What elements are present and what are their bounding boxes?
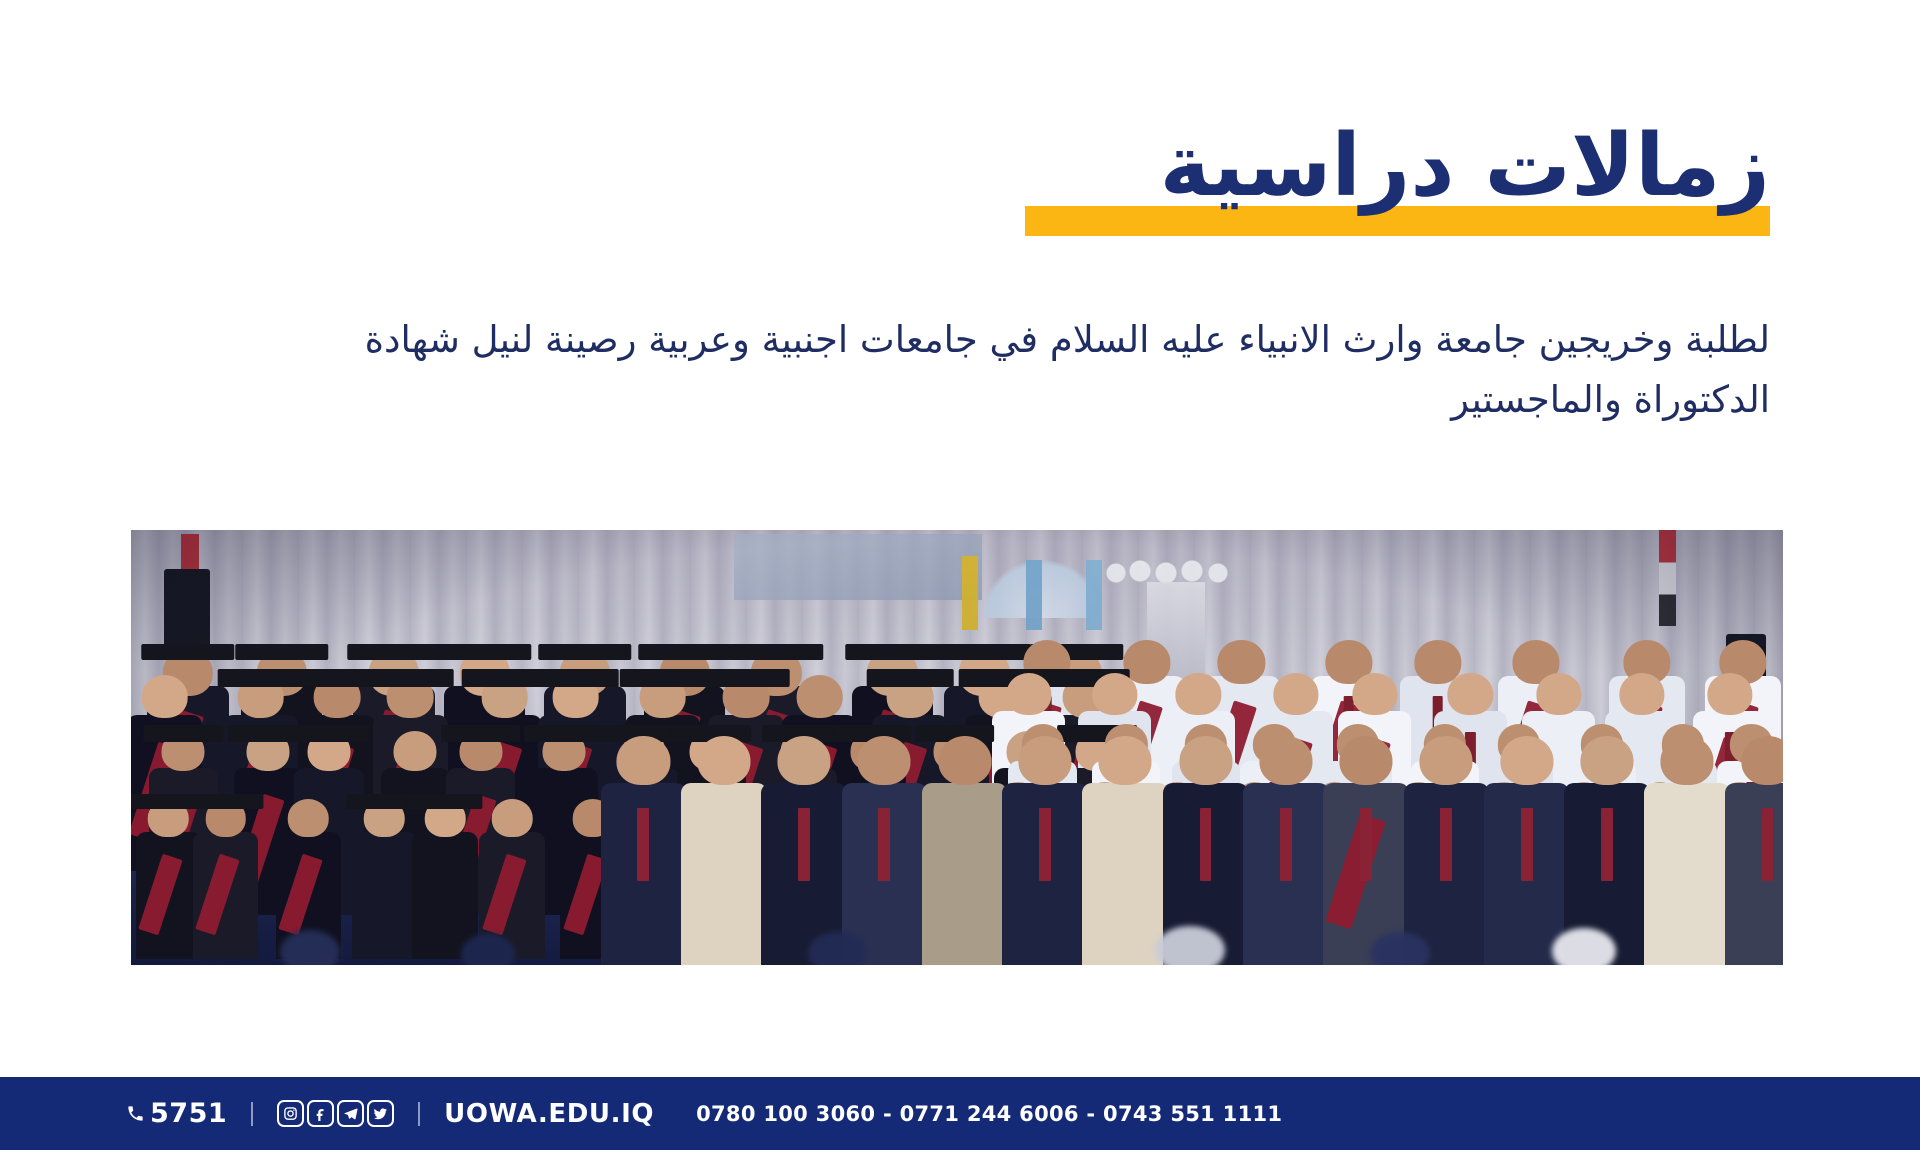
figure-head [1018, 736, 1071, 786]
page-title: زمالات دراسية [1160, 118, 1770, 214]
figure-head [1536, 673, 1581, 715]
graduation-sash [138, 853, 182, 934]
subtitle-line-1: لطلبة وخريجين جامعة وارث الانبياء عليه ا… [150, 310, 1770, 370]
graduation-cap [538, 644, 631, 660]
figure-head [1092, 673, 1137, 715]
phone-numbers: 0780 100 3060 - 0771 244 6006 - 0743 551… [696, 1102, 1282, 1126]
graduation-cap [347, 644, 440, 660]
phone-icon [126, 1104, 145, 1123]
necktie [878, 808, 890, 881]
dignitary-figure [1323, 731, 1409, 965]
graduation-cap [524, 725, 604, 742]
necktie [1521, 808, 1533, 881]
figure-head [141, 675, 188, 719]
graduation-cap [144, 725, 224, 742]
hotline-number: 5751 [150, 1098, 227, 1129]
figure-head [1176, 673, 1221, 715]
figure-body [193, 832, 258, 959]
dignitary-figure [1002, 731, 1088, 965]
graduation-cap [845, 644, 938, 660]
graduation-cap [638, 644, 731, 660]
dignitary-figure [1243, 731, 1329, 965]
figure-head [1448, 673, 1493, 715]
cleric-figure [1082, 731, 1168, 965]
figure-body [601, 783, 687, 965]
dignitary-figure [1725, 731, 1783, 965]
social-links [277, 1100, 394, 1127]
website-url[interactable]: UOWA.EDU.IQ [444, 1099, 654, 1129]
group-photo-image [131, 530, 1783, 965]
iraqi-flag-right [1659, 530, 1676, 626]
graduation-cap [441, 725, 521, 742]
graduation-cap [188, 794, 263, 809]
figure-head [288, 799, 329, 837]
figure-head [1340, 736, 1393, 786]
figure-head [697, 736, 750, 786]
graduation-sash [278, 853, 322, 934]
cleric-figure [681, 731, 767, 965]
projection-screen [734, 534, 982, 599]
cleric-figure [922, 731, 1008, 965]
graduation-cap [703, 669, 790, 687]
figure-head [778, 736, 831, 786]
necktie [1440, 808, 1452, 881]
telegram-icon[interactable] [337, 1100, 364, 1127]
footer-bar: 5751 [0, 1077, 1920, 1150]
hotline[interactable]: 5751 [126, 1098, 227, 1129]
figure-head [1500, 736, 1553, 786]
figure-head [1619, 673, 1664, 715]
figure-head [858, 736, 911, 786]
facebook-icon[interactable] [307, 1100, 334, 1127]
necktie [1762, 808, 1774, 881]
necktie [1200, 808, 1212, 881]
figure-head [1741, 736, 1783, 786]
figure-head [1099, 736, 1152, 786]
figure-body [1725, 783, 1783, 965]
figure-body [922, 783, 1008, 965]
figure-body [1243, 783, 1329, 965]
cleric-figure [1644, 731, 1730, 965]
figure-body [1082, 783, 1168, 965]
female-graduate [193, 796, 258, 959]
figure-head [1420, 736, 1473, 786]
twitter-icon[interactable] [367, 1100, 394, 1127]
dignitary-figure [1484, 731, 1570, 965]
graduation-cap [730, 644, 823, 660]
footer-content: 5751 [126, 1098, 1282, 1129]
figure-body [136, 832, 201, 959]
group-photo [131, 530, 1783, 965]
dignitary-figure [761, 731, 847, 965]
figure-head [796, 675, 843, 719]
figure-head [1179, 736, 1232, 786]
blue-flag-2 [1086, 560, 1102, 630]
necktie [1360, 808, 1372, 881]
graduation-cap [235, 644, 328, 660]
dignitary-figure [842, 731, 928, 965]
figure-body [1644, 783, 1730, 965]
female-graduate [136, 796, 201, 959]
graduation-cap [367, 669, 454, 687]
figure-head [1352, 673, 1397, 715]
figure-head [1580, 736, 1633, 786]
graduation-sash [482, 853, 526, 934]
graduation-sash [196, 853, 240, 934]
blue-flag-1 [1026, 560, 1042, 630]
figure-body [352, 832, 417, 959]
graduation-cap [407, 794, 482, 809]
graduation-cap [619, 669, 706, 687]
poster-subtitle: لطلبة وخريجين جامعة وارث الانبياء عليه ا… [150, 310, 1770, 430]
figure-head [1259, 736, 1312, 786]
figure-head [1707, 673, 1752, 715]
dignitary-figure [1404, 731, 1490, 965]
necktie [637, 808, 649, 881]
necktie [1601, 808, 1613, 881]
necktie [1039, 808, 1051, 881]
figure-head [1006, 673, 1051, 715]
graduation-cap [217, 669, 304, 687]
graduation-cap [867, 669, 954, 687]
graduation-cap [141, 644, 234, 660]
graduation-cap [289, 725, 369, 742]
dignitary-figure [601, 731, 687, 965]
figure-body [681, 783, 767, 965]
graduation-cap [438, 644, 531, 660]
figure-head [492, 799, 533, 837]
figure-body [1002, 783, 1088, 965]
necktie [1280, 808, 1292, 881]
female-graduate [352, 796, 417, 959]
figure-head [617, 736, 670, 786]
subtitle-line-2: الدكتوراة والماجستير [150, 370, 1770, 430]
yellow-flag [962, 556, 978, 630]
figure-head [394, 731, 437, 771]
graduation-sash [1325, 814, 1386, 930]
figure-head [1661, 736, 1714, 786]
footer-divider-2 [418, 1102, 420, 1126]
necktie [798, 808, 810, 881]
footer-divider-1 [251, 1102, 253, 1126]
graduation-cap [532, 669, 619, 687]
instagram-icon[interactable] [277, 1100, 304, 1127]
loudspeaker-left [164, 569, 210, 649]
poster-canvas: زمالات دراسية لطلبة وخريجين جامعة وارث ا… [0, 0, 1920, 1150]
female-graduate [412, 796, 477, 959]
figure-head [1274, 673, 1319, 715]
figure-head [938, 736, 991, 786]
